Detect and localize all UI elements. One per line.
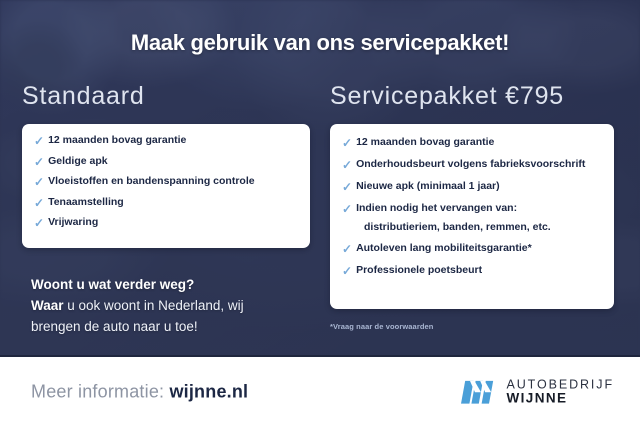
list-item-label: Indien nodig het vervangen van: — [356, 203, 517, 214]
promo-line2-rest: u ook woont in Nederland, wij — [64, 298, 244, 313]
servicepakket-card: ✓ 12 maanden bovag garantie ✓ Onderhouds… — [330, 124, 614, 309]
servicepakket-feature-list: ✓ 12 maanden bovag garantie ✓ Onderhouds… — [330, 124, 614, 277]
list-item: ✓ Onderhoudsbeurt volgens fabrieksvoorsc… — [330, 159, 614, 171]
check-icon: ✓ — [342, 203, 352, 215]
list-item: ✓ Vloeistoffen en bandenspanning control… — [22, 176, 310, 188]
delivery-promo-text: Woont u wat verder weg? Waar u ook woont… — [31, 274, 321, 337]
promo-line1: Woont u wat verder weg? — [31, 277, 194, 292]
more-information-text: Meer informatie: wijnne.nl — [31, 382, 248, 403]
footer-bar: Meer informatie: wijnne.nl AUTOBEDRIJF W… — [0, 357, 640, 427]
list-item-sublabel: distributieriem, banden, remmen, etc. — [330, 222, 614, 233]
conditions-footnote: *Vraag naar de voorwaarden — [330, 322, 433, 331]
logo-line-wijnne: WIJNNE — [507, 391, 615, 405]
company-logo: AUTOBEDRIJF WIJNNE — [461, 379, 615, 406]
website-link[interactable]: wijnne.nl — [169, 382, 248, 402]
check-icon: ✓ — [342, 159, 352, 171]
list-item: ✓ 12 maanden bovag garantie — [330, 137, 614, 149]
check-icon: ✓ — [342, 137, 352, 149]
standaard-feature-list: ✓ 12 maanden bovag garantie ✓ Geldige ap… — [22, 124, 310, 229]
promo-banner: Maak gebruik van ons servicepakket! Stan… — [0, 0, 640, 427]
banner-content: Maak gebruik van ons servicepakket! Stan… — [0, 0, 640, 427]
logo-line-autobedrijf: AUTOBEDRIJF — [507, 379, 615, 392]
list-item-label: Vrijwaring — [48, 217, 98, 228]
promo-line3: brengen de auto naar u toe! — [31, 319, 198, 334]
list-item: ✓ Vrijwaring — [22, 217, 310, 229]
standaard-card: ✓ 12 maanden bovag garantie ✓ Geldige ap… — [22, 124, 310, 248]
list-item: ✓ Geldige apk — [22, 156, 310, 168]
list-item: ✓ 12 maanden bovag garantie — [22, 135, 310, 147]
wijnne-w-mark-icon — [461, 380, 498, 403]
column-heading-standaard: Standaard — [22, 82, 145, 111]
list-item-label: 12 maanden bovag garantie — [48, 135, 186, 146]
list-item-label: Professionele poetsbeurt — [356, 265, 482, 276]
list-item-label: Vloeistoffen en bandenspanning controle — [48, 176, 255, 187]
promo-line2-bold: Waar — [31, 298, 64, 313]
check-icon: ✓ — [342, 265, 352, 277]
more-information-label: Meer informatie: — [31, 382, 169, 402]
list-item: ✓ Indien nodig het vervangen van: — [330, 203, 614, 215]
logo-wordmark: AUTOBEDRIJF WIJNNE — [507, 379, 615, 406]
list-item-label: Autoleven lang mobiliteitsgarantie* — [356, 243, 532, 254]
list-item: ✓ Professionele poetsbeurt — [330, 265, 614, 277]
list-item-label: Onderhoudsbeurt volgens fabrieksvoorschr… — [356, 159, 585, 170]
check-icon: ✓ — [34, 197, 44, 209]
list-item-label: Tenaamstelling — [48, 197, 124, 208]
list-item-label: Geldige apk — [48, 156, 108, 167]
list-item-label: Nieuwe apk (minimaal 1 jaar) — [356, 181, 500, 192]
check-icon: ✓ — [34, 176, 44, 188]
column-heading-servicepakket: Servicepakket €795 — [330, 82, 564, 111]
list-item: ✓ Tenaamstelling — [22, 197, 310, 209]
list-item: ✓ Nieuwe apk (minimaal 1 jaar) — [330, 181, 614, 193]
check-icon: ✓ — [342, 243, 352, 255]
check-icon: ✓ — [34, 156, 44, 168]
headline: Maak gebruik van ons servicepakket! — [0, 30, 640, 56]
check-icon: ✓ — [34, 217, 44, 229]
check-icon: ✓ — [342, 181, 352, 193]
check-icon: ✓ — [34, 135, 44, 147]
list-item-label: 12 maanden bovag garantie — [356, 137, 494, 148]
list-item: ✓ Autoleven lang mobiliteitsgarantie* — [330, 243, 614, 255]
